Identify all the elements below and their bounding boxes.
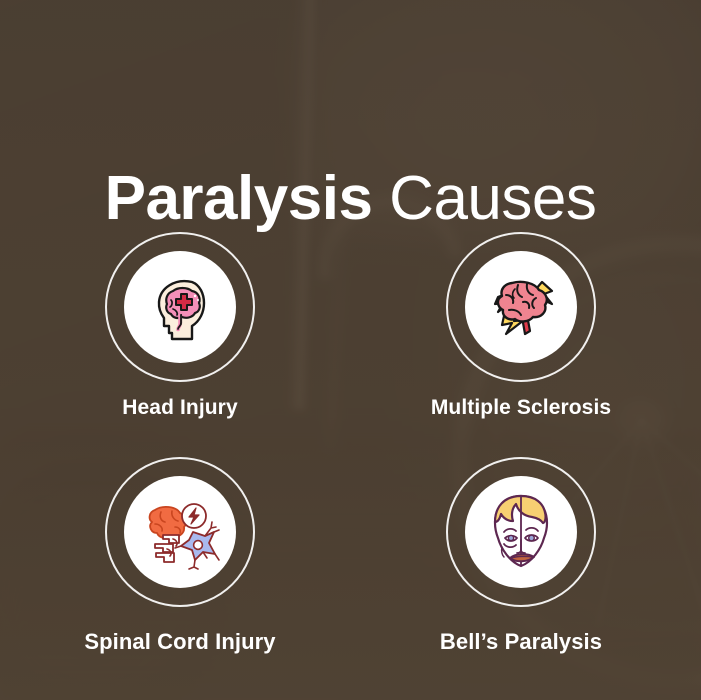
icon-ring — [446, 457, 596, 607]
icon-disc — [124, 476, 236, 588]
icon-ring — [105, 457, 255, 607]
cause-label: Head Injury — [5, 396, 355, 420]
icon-ring — [105, 232, 255, 382]
spine-neuron-icon — [139, 494, 221, 570]
cause-card-head-injury[interactable]: Head Injury — [5, 232, 355, 420]
causes-grid: Head Injury — [0, 232, 701, 682]
brain-lightning-icon — [482, 269, 560, 345]
title-light-word: Causes — [372, 164, 596, 233]
cause-card-multiple-sclerosis[interactable]: Multiple Sclerosis — [346, 232, 696, 420]
icon-ring — [446, 232, 596, 382]
icon-disc — [465, 476, 577, 588]
cause-card-spinal-cord-injury[interactable]: Spinal Cord Injury — [5, 457, 355, 655]
head-brain-cross-icon — [142, 269, 218, 345]
cause-label: Bell’s Paralysis — [346, 629, 696, 655]
asymmetric-face-icon — [484, 492, 558, 572]
icon-disc — [124, 251, 236, 363]
cause-card-bells-paralysis[interactable]: Bell’s Paralysis — [346, 457, 696, 655]
causes-row-2: Spinal Cord Injury — [0, 457, 701, 682]
icon-disc — [465, 251, 577, 363]
cause-label: Spinal Cord Injury — [5, 629, 355, 655]
page-title: Paralysis Causes — [0, 164, 701, 234]
cause-label: Multiple Sclerosis — [346, 396, 696, 420]
title-bold-word: Paralysis — [105, 164, 373, 233]
causes-row-1: Head Injury — [0, 232, 701, 457]
paralysis-causes-infographic: Paralysis Causes — [0, 0, 701, 700]
